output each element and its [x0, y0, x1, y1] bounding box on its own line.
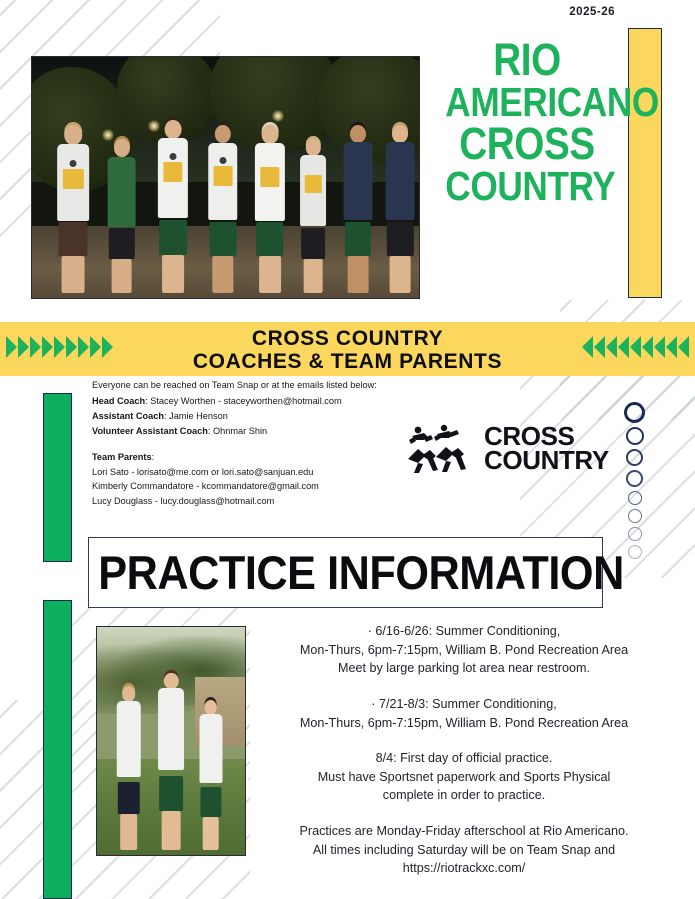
photo-person	[338, 125, 378, 294]
banner-heading: CROSS COUNTRY COACHES & TEAM PARENTS	[0, 322, 695, 373]
practice-line: Mon-Thurs, 6pm-7:15pm, William B. Pond R…	[258, 641, 670, 660]
race-bib	[163, 162, 182, 183]
running-figures-icon	[404, 421, 478, 477]
practice-line: Mon-Thurs, 6pm-7:15pm, William B. Pond R…	[258, 714, 670, 733]
person-head	[261, 125, 278, 144]
person-shorts	[59, 222, 88, 256]
team-parents-colon: :	[152, 452, 155, 462]
cross-country-logo-text: CROSS COUNTRY	[484, 425, 609, 473]
person-shorts	[118, 782, 140, 815]
person-shorts	[345, 222, 371, 256]
race-bib	[260, 167, 279, 187]
practice-paragraph-4: Practices are Monday-Friday afterschool …	[258, 822, 670, 878]
photo-person	[112, 686, 146, 850]
race-bib	[305, 175, 322, 194]
person-shorts	[301, 228, 325, 259]
practice-line: · 7/21-8/3: Summer Conditioning,	[258, 695, 670, 714]
practice-line: Meet by large parking lot area near rest…	[258, 659, 670, 678]
team-parents-heading: Team Parents:	[92, 450, 422, 465]
team-parents-list: Lori Sato - lorisato@me.com or lori.sato…	[92, 465, 422, 510]
person-torso	[117, 701, 141, 777]
person-legs	[111, 259, 132, 293]
person-torso	[343, 142, 372, 220]
person-torso	[199, 714, 222, 783]
team-group-photo	[31, 56, 420, 299]
person-legs	[120, 814, 138, 850]
green-accent-bar-upper	[43, 393, 72, 562]
person-head	[122, 686, 136, 702]
stadium-light	[272, 110, 284, 122]
circle-dot-2	[626, 427, 644, 445]
person-head	[350, 125, 366, 143]
person-legs	[202, 817, 219, 850]
person-shorts	[209, 222, 236, 256]
photo-person	[202, 125, 243, 294]
person-head	[306, 139, 320, 156]
person-head	[65, 125, 83, 145]
person-shorts	[256, 222, 284, 256]
race-bib	[213, 166, 232, 186]
person-torso	[107, 157, 136, 228]
circle-dots-decor	[624, 402, 645, 559]
race-bib	[63, 169, 83, 189]
practice-information-box: PRACTICE INFORMATION	[88, 537, 603, 608]
page-title-line-1: RIO	[445, 38, 608, 82]
three-runners-photo	[96, 626, 246, 856]
practice-line: https://riotrackxc.com/	[258, 859, 670, 878]
circle-dot-1	[624, 402, 645, 423]
assistant-coach-label: Assistant Coach	[92, 411, 164, 421]
person-head	[204, 700, 217, 715]
person-legs	[304, 259, 323, 293]
circle-dot-7	[628, 527, 642, 541]
person-torso	[386, 142, 415, 220]
assistant-coach-value: : Jamie Henson	[164, 411, 228, 421]
team-parent-line-3: Lucy Douglass - lucy.douglass@hotmail.co…	[92, 494, 422, 509]
circle-dot-6	[628, 509, 642, 523]
person-shorts	[387, 222, 413, 256]
cross-country-logo: CROSS COUNTRY	[404, 418, 600, 480]
logo-line2: COUNTRY	[484, 449, 609, 473]
person-legs	[347, 256, 368, 293]
yellow-accent-bar	[628, 28, 662, 298]
page-title-line-2: AMERICANO	[445, 82, 608, 122]
page-title-line-4: COUNTRY	[445, 166, 608, 206]
photo-person	[195, 700, 227, 850]
person-head	[392, 125, 408, 143]
school-year-label: 2025-26	[569, 6, 615, 18]
circle-dot-4	[626, 470, 643, 487]
person-shorts	[159, 776, 183, 812]
page-title-line-3: CROSS	[445, 122, 608, 166]
volunteer-coach-line: Volunteer Assistant Coach: Ohnmar Shin	[92, 424, 422, 439]
practice-paragraph-3: 8/4: First day of official practice.Must…	[258, 749, 670, 805]
assistant-coach-line: Assistant Coach: Jamie Henson	[92, 409, 422, 424]
photo-person	[51, 125, 95, 294]
photo-person	[295, 139, 331, 293]
head-coach-value: : Stacey Worthen - staceyworthen@hotmail…	[145, 396, 342, 406]
person-head	[164, 673, 178, 690]
practice-line: 8/4: First day of official practice.	[258, 749, 670, 768]
team-parent-line-1: Lori Sato - lorisato@me.com or lori.sato…	[92, 465, 422, 480]
practice-line: · 6/16-6/26: Summer Conditioning,	[258, 622, 670, 641]
person-legs	[212, 256, 233, 293]
flyer-page: 2025-26 RIOAMERICANOCROSSCOUNTRY CROSS C…	[0, 0, 695, 899]
person-legs	[259, 256, 281, 293]
green-accent-bar-lower	[43, 600, 72, 899]
head-coach-label: Head Coach	[92, 396, 145, 406]
person-legs	[390, 256, 411, 293]
volunteer-coach-label: Volunteer Assistant Coach	[92, 426, 208, 436]
photo-person	[249, 125, 291, 294]
person-head	[215, 125, 231, 144]
person-torso	[158, 688, 184, 770]
person-legs	[162, 255, 184, 293]
photo-person	[153, 673, 189, 851]
circle-dot-3	[626, 449, 643, 466]
practice-paragraph-1: · 6/16-6/26: Summer Conditioning,Mon-Thu…	[258, 622, 670, 678]
medal	[219, 157, 226, 164]
head-coach-line: Head Coach: Stacey Worthen - staceyworth…	[92, 394, 422, 409]
photo-person	[380, 125, 420, 294]
person-shorts	[200, 787, 221, 817]
medal	[70, 160, 77, 167]
practice-paragraph-2: · 7/21-8/3: Summer Conditioning,Mon-Thur…	[258, 695, 670, 732]
practice-line: Practices are Monday-Friday afterschool …	[258, 822, 670, 841]
page-title: RIOAMERICANOCROSSCOUNTRY	[445, 38, 608, 207]
practice-information-heading: PRACTICE INFORMATION	[89, 545, 624, 600]
circle-dot-8	[628, 545, 642, 559]
text-spacer	[92, 439, 422, 450]
practice-line: complete in order to practice.	[258, 786, 670, 805]
person-shorts	[159, 220, 187, 255]
person-shorts	[108, 228, 134, 259]
person-head	[165, 120, 182, 139]
circle-dot-5	[628, 491, 642, 505]
practice-line: Must have Sportsnet paperwork and Sports…	[258, 768, 670, 787]
coaches-contact-block: Everyone can be reached on Team Snap or …	[92, 378, 422, 509]
practice-line: All times including Saturday will be on …	[258, 841, 670, 860]
team-parent-line-2: Kimberly Commandatore - kcommandatore@gm…	[92, 479, 422, 494]
section-banner-coaches: CROSS COUNTRY COACHES & TEAM PARENTS	[0, 322, 695, 376]
banner-heading-line1: CROSS COUNTRY	[0, 327, 695, 350]
volunteer-coach-value: : Ohnmar Shin	[208, 426, 267, 436]
practice-details-text: · 6/16-6/26: Summer Conditioning,Mon-Thu…	[258, 622, 670, 878]
banner-heading-line2: COACHES & TEAM PARENTS	[0, 350, 695, 373]
person-legs	[62, 256, 85, 293]
coaches-intro-line: Everyone can be reached on Team Snap or …	[92, 378, 422, 393]
photo-person	[152, 120, 194, 294]
person-head	[114, 139, 130, 157]
team-parents-label: Team Parents	[92, 452, 152, 462]
person-legs	[162, 811, 181, 850]
photo-person	[102, 139, 142, 293]
medal	[169, 153, 176, 160]
